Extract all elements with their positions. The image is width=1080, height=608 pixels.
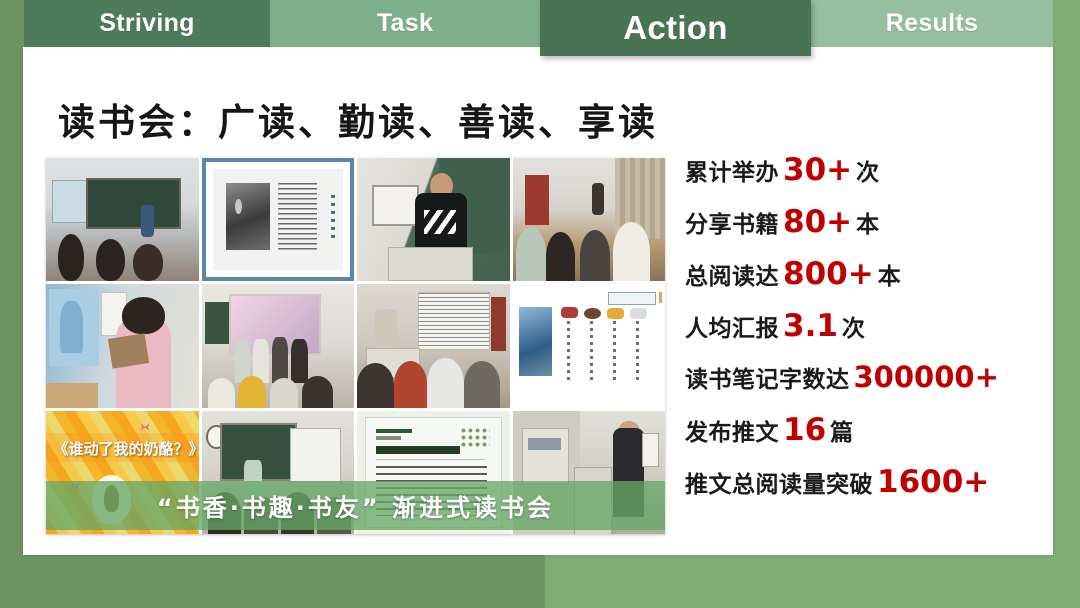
seated-student [516, 227, 547, 281]
vertical-caption [331, 195, 335, 240]
stat-value: 80+ [783, 204, 852, 240]
collage-photo-classroom-with-projected-text [357, 284, 510, 407]
shirt-pattern [424, 210, 456, 235]
audience-member [208, 378, 235, 408]
slide-divider [376, 459, 484, 460]
stat-suffix: 篇 [830, 413, 854, 447]
teacher-figure [141, 205, 155, 237]
blackboard [86, 178, 182, 229]
stat-suffix: 本 [878, 257, 902, 291]
stat-label: 累计举办 [685, 153, 779, 187]
slide-text-lines [278, 183, 317, 250]
standing-speaker [592, 183, 604, 215]
audience-member [270, 378, 297, 408]
audience-member [238, 376, 265, 408]
student-head [133, 244, 164, 281]
audience-member [394, 361, 428, 408]
author-portrait [226, 183, 270, 250]
stat-label: 人均汇报 [685, 309, 779, 343]
stat-suffix: 本 [856, 205, 880, 239]
collage-photo-student-presenting-at-podium [357, 158, 510, 281]
blackboard [205, 302, 229, 344]
classroom-desk [46, 383, 98, 408]
audience-member [464, 361, 501, 408]
portrait-face [235, 199, 242, 214]
stat-value: 1600+ [877, 464, 989, 500]
vertical-text-column [590, 321, 593, 380]
open-book [108, 333, 149, 368]
article-icon [607, 308, 624, 319]
stat-value: 30+ [783, 152, 852, 188]
article-icon [584, 308, 601, 319]
presenter-figure [272, 337, 289, 383]
presentation-slide: Striving Task Action Results 读书会：广读、勤读、善… [0, 0, 1080, 608]
statistics-list: 累计举办 30+ 次 分享书籍 80+ 本 总阅读达 800+ 本 人均汇报 3… [685, 152, 1035, 516]
stat-label: 读书笔记字数达 [685, 360, 850, 394]
stat-value: 800+ [783, 256, 874, 292]
audience-member [302, 376, 333, 408]
slide-inner [213, 169, 344, 270]
red-door [491, 297, 506, 351]
tab-task[interactable]: Task [270, 0, 540, 47]
podium-desk [388, 247, 474, 281]
seated-student [580, 230, 611, 282]
tab-results[interactable]: Results [811, 0, 1053, 47]
vertical-text-column [613, 321, 616, 380]
tab-results-label: Results [886, 9, 978, 38]
equipment-panel [528, 438, 562, 450]
stat-value: 16 [783, 412, 826, 448]
student-head [96, 239, 125, 281]
stat-row: 读书笔记字数达 300000+ [685, 360, 1035, 412]
red-door [525, 175, 549, 224]
equipment-cabinet [522, 428, 570, 484]
article-icon [630, 308, 647, 319]
stat-label: 发布推文 [685, 413, 779, 447]
audience-member [427, 358, 464, 407]
stat-label: 分享书籍 [685, 205, 779, 239]
book-cover-title: 《谁动了我的奶酪？》 [54, 438, 194, 459]
collage-photo-classroom-blackboard-lecture [46, 158, 199, 281]
collage-photo-group-presentation-before-projector [202, 284, 355, 407]
butterfly-icon [141, 423, 150, 431]
reader-head [122, 297, 165, 334]
article-tag-bar [659, 292, 662, 303]
stat-suffix: 次 [856, 153, 880, 187]
stat-suffix: 次 [842, 309, 866, 343]
whiteboard [290, 428, 341, 482]
student-head [58, 234, 84, 281]
tab-action-label: Action [623, 9, 727, 47]
collage-photo-woman-in-pink-reading-aloud [46, 284, 199, 407]
stat-value: 3.1 [783, 308, 838, 344]
poster-figure [60, 301, 83, 353]
wall-poster [49, 289, 99, 365]
stat-row: 累计举办 30+ 次 [685, 152, 1035, 204]
vertical-text-column [636, 321, 639, 380]
audience-member [357, 363, 394, 407]
seated-student [546, 232, 575, 281]
collage-caption-banner: “书香·书趣·书友” 渐进式读书会 [46, 481, 665, 530]
collage-photo-reading-notes-article-layout [513, 284, 666, 407]
stat-row: 分享书籍 80+ 本 [685, 204, 1035, 256]
presenter-figure [291, 339, 308, 383]
stat-row: 人均汇报 3.1 次 [685, 308, 1035, 360]
tab-task-label: Task [377, 9, 433, 38]
article-icon [561, 307, 578, 318]
tab-striving-label: Striving [99, 9, 194, 38]
seated-student [613, 222, 650, 281]
tab-striving[interactable]: Striving [24, 0, 270, 47]
slide-heading [376, 429, 411, 433]
tab-action[interactable]: Action [540, 0, 811, 56]
stat-row: 推文总阅读量突破 1600+ [685, 464, 1035, 516]
article-photo [519, 307, 553, 376]
stat-label: 总阅读达 [685, 257, 779, 291]
vertical-text-column [567, 321, 570, 380]
wall-frame [642, 433, 659, 467]
photo-collage: 《谁动了我的奶酪？》 [46, 158, 665, 534]
collage-photo-students-seated-at-long-tables [513, 158, 666, 281]
stat-row: 总阅读达 800+ 本 [685, 256, 1035, 308]
slide-subheading [376, 436, 400, 439]
page-title: 读书会：广读、勤读、善读、享读 [58, 92, 658, 146]
projection-screen [418, 292, 490, 351]
collage-photo-slide-author-portrait-introduction [202, 158, 355, 281]
stat-row: 发布推文 16 篇 [685, 412, 1035, 464]
slide-decoration-dots [460, 427, 490, 449]
stat-value: 300000+ [854, 360, 999, 394]
standing-speaker [375, 309, 396, 351]
article-tag-box [608, 292, 656, 305]
wall-frame [372, 185, 419, 226]
section-tab-strip: Striving Task Action Results [0, 0, 1080, 60]
slide-question-line [376, 446, 460, 454]
stat-label: 推文总阅读量突破 [685, 465, 873, 499]
